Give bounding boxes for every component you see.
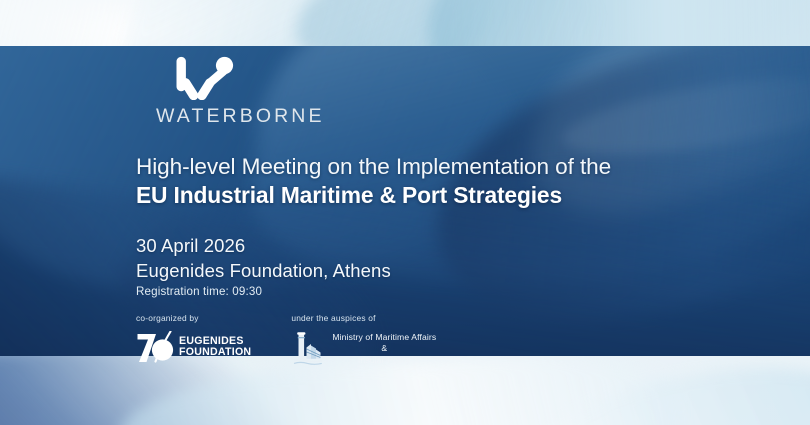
partners-section: co-organized by EUGENIDES FOUNDATION (136, 314, 756, 366)
under-the-auspices-of-label: under the auspices of (291, 314, 436, 322)
event-banner: WATERBORNE High-level Meeting on the Imp… (0, 0, 810, 425)
event-registration-time: Registration time: 09:30 (136, 285, 756, 298)
waterborne-w-mark-icon (170, 56, 356, 105)
greek-ministry-lighthouse-emblem-icon (291, 331, 325, 367)
eugenides-70-anniversary-logo-icon (136, 331, 176, 364)
event-venue: Eugenides Foundation, Athens (136, 258, 756, 283)
ministry-name-line-3: Insular Policy (332, 355, 436, 366)
event-title-line-1: High-level Meeting on the Implementation… (136, 153, 756, 182)
event-details: 30 April 2026 Eugenides Foundation, Athe… (136, 233, 756, 298)
eugenides-name-line-2: FOUNDATION (179, 347, 251, 358)
waterborne-wordmark: WATERBORNE (156, 107, 356, 127)
event-title-line-2: EU Industrial Maritime & Port Strategies (136, 181, 756, 210)
co-organized-by-label: co-organized by (136, 314, 251, 322)
ministry-wordmark: Ministry of Maritime Affairs & Insular P… (332, 332, 436, 366)
eugenides-foundation-logo: EUGENIDES FOUNDATION (136, 331, 251, 364)
banner-content: WATERBORNE High-level Meeting on the Imp… (136, 56, 756, 367)
event-title: High-level Meeting on the Implementation… (136, 153, 756, 211)
co-organizer-block: co-organized by EUGENIDES FOUNDATION (136, 314, 251, 363)
auspices-block: under the auspices of (291, 314, 436, 366)
ministry-logo: Ministry of Maritime Affairs & Insular P… (291, 331, 436, 367)
ministry-name-line-1: Ministry of Maritime Affairs (332, 332, 436, 343)
event-date: 30 April 2026 (136, 233, 756, 258)
eugenides-wordmark: EUGENIDES FOUNDATION (179, 336, 251, 358)
ministry-name-line-2: & (332, 343, 436, 354)
waterborne-logo: WATERBORNE (156, 56, 356, 127)
